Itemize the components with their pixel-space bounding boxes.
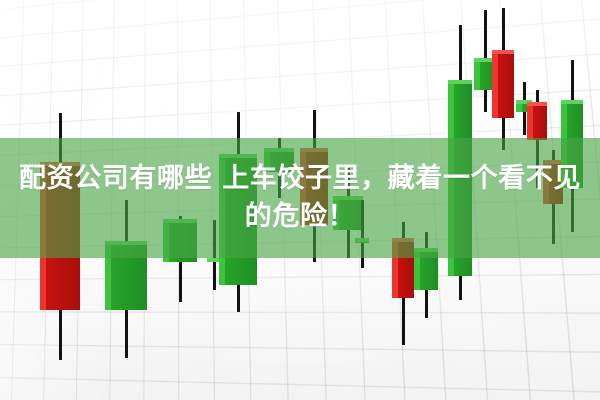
candle-body [492, 50, 514, 118]
candle-face-front [498, 50, 514, 118]
candle-face-front [533, 102, 547, 140]
candle-face-top [561, 100, 583, 104]
candle-14 [492, 8, 514, 150]
candle-face-top [448, 80, 472, 84]
chart-image: 配资公司有哪些 上车饺子里，藏着一个看不见的危险！ [0, 0, 600, 400]
headline-text: 配资公司有哪些 上车饺子里，藏着一个看不见的危险！ [0, 160, 600, 237]
candle-face-top [492, 50, 514, 54]
candle-face-top [527, 102, 547, 106]
candle-body [527, 102, 547, 140]
headline-overlay-band: 配资公司有哪些 上车饺子里，藏着一个看不见的危险！ [0, 138, 600, 258]
